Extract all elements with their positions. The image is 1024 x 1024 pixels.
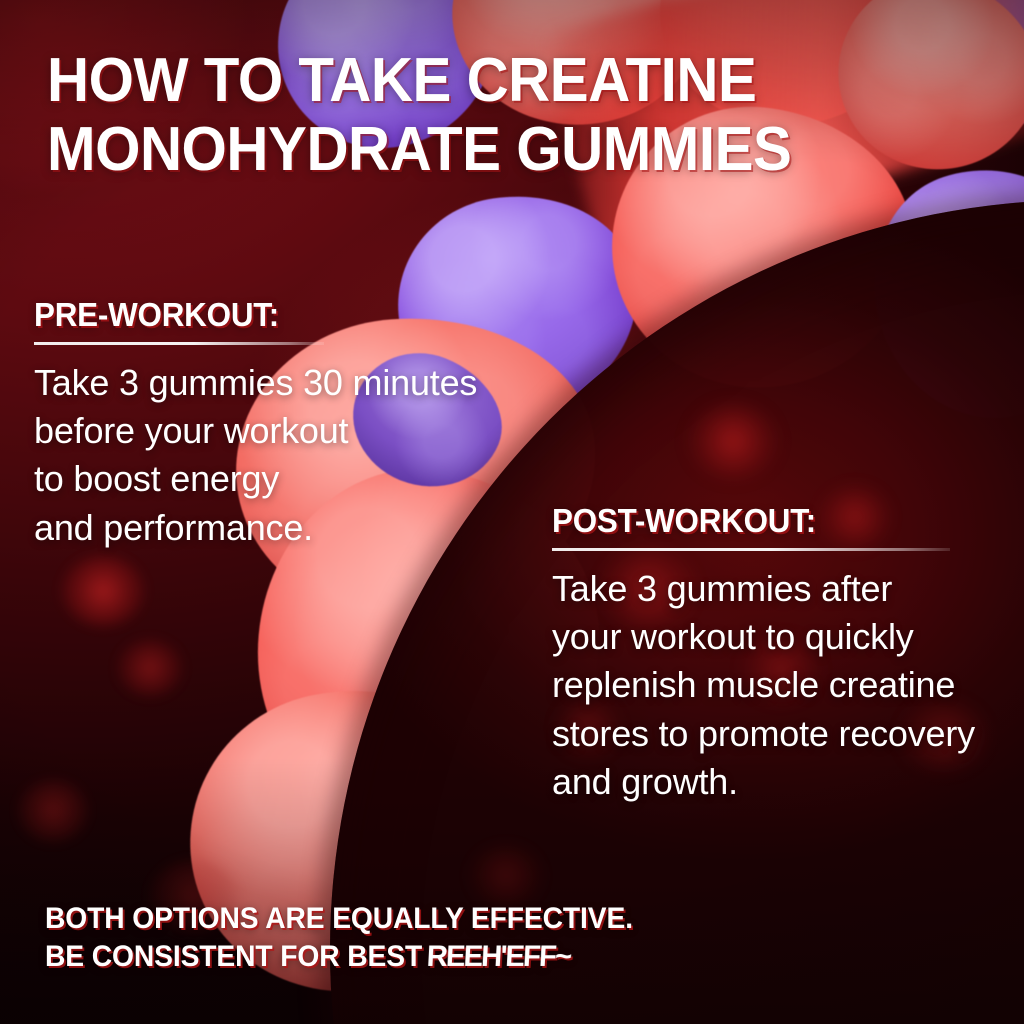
section-post-workout-heading: POST-WORKOUT: bbox=[552, 502, 999, 540]
footer-line-2-text: BE CONSISTENT FOR BEST bbox=[45, 940, 430, 973]
body-line: stores to promote recovery bbox=[552, 710, 1022, 758]
body-line: replenish muscle creatine bbox=[552, 661, 1022, 709]
body-line: your workout to quickly bbox=[552, 613, 1022, 661]
page-title-line-1: HOW TO TAKE CREATINE bbox=[47, 46, 874, 115]
poster-content: HOW TO TAKE CREATINE MONOHYDRATE GUMMIES… bbox=[0, 0, 1024, 1024]
poster-canvas: HOW TO TAKE CREATINE MONOHYDRATE GUMMIES… bbox=[0, 0, 1024, 1024]
footer-garbled-word: REEH'EFF~ bbox=[426, 938, 571, 976]
section-pre-workout-underline bbox=[34, 342, 324, 345]
section-post-workout: POST-WORKOUT: Take 3 gummies after your … bbox=[552, 502, 1022, 806]
footer-line-1: BOTH OPTIONS ARE EQUALLY EFFECTIVE. bbox=[45, 900, 633, 938]
page-title-line-2: MONOHYDRATE GUMMIES bbox=[47, 115, 874, 184]
body-line: Take 3 gummies 30 minutes bbox=[34, 359, 514, 407]
section-post-workout-body: Take 3 gummies after your workout to qui… bbox=[552, 565, 1022, 806]
body-line: to boost energy bbox=[34, 455, 514, 503]
body-line: and growth. bbox=[552, 758, 1022, 806]
section-pre-workout-body: Take 3 gummies 30 minutes before your wo… bbox=[34, 359, 514, 552]
section-pre-workout-heading: PRE-WORKOUT: bbox=[34, 296, 490, 334]
footer-line-2: BE CONSISTENT FOR BEST REEH'EFF~ bbox=[45, 938, 633, 976]
body-line: and performance. bbox=[34, 504, 514, 552]
section-post-workout-underline bbox=[552, 548, 950, 551]
page-title: HOW TO TAKE CREATINE MONOHYDRATE GUMMIES bbox=[47, 46, 874, 185]
body-line: Take 3 gummies after bbox=[552, 565, 1022, 613]
body-line: before your workout bbox=[34, 407, 514, 455]
section-pre-workout: PRE-WORKOUT: Take 3 gummies 30 minutes b… bbox=[34, 296, 514, 552]
footer-callout: BOTH OPTIONS ARE EQUALLY EFFECTIVE. BE C… bbox=[45, 900, 633, 977]
